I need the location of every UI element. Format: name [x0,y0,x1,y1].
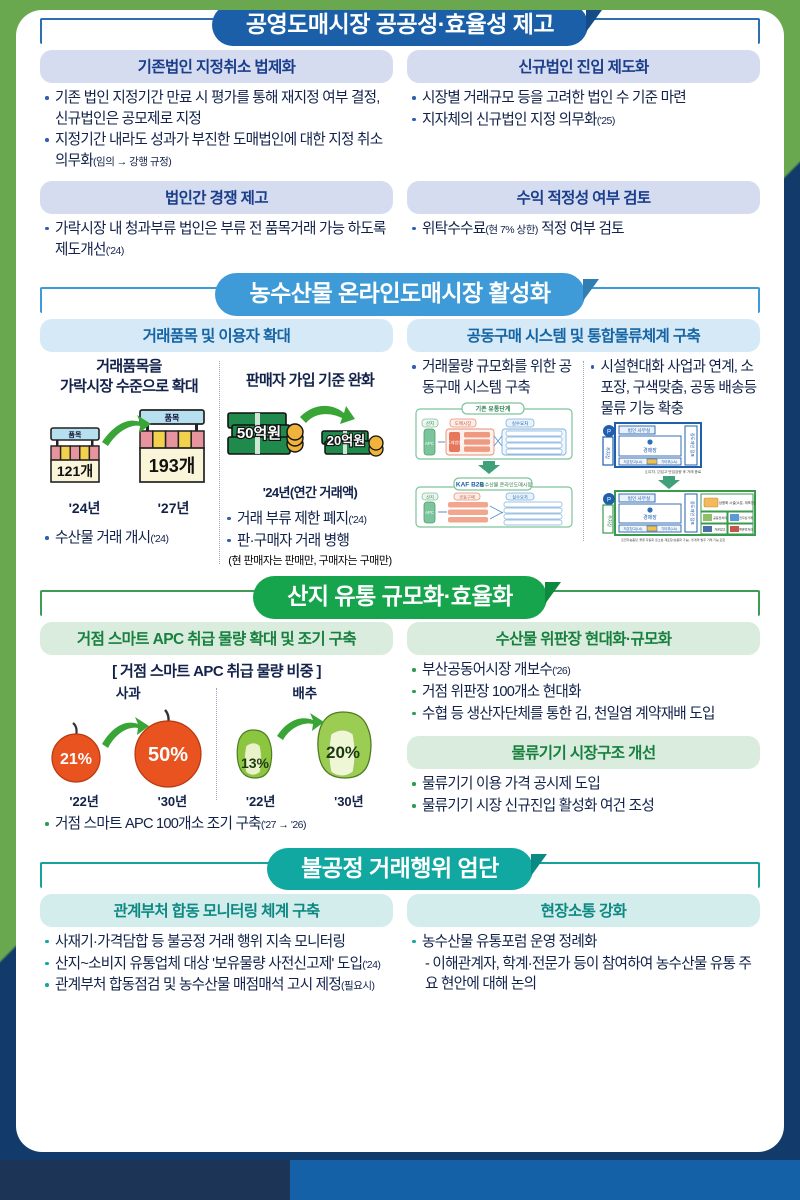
list-item: 농수산물 유통포럼 운영 정례화 [411,932,758,953]
chart-title: [ 거점 스마트 APC 취급 물량 비중 ] [40,660,393,681]
list-item: 기존 법인 지정기간 만료 시 평가를 통해 재지정 여부 결정, 신규법인은 … [44,88,391,129]
figure-joint-purchase: 거래물량 규모화를 위한 공동구매 시스템 구축 기존 유통단계 산지 APC [407,357,582,545]
section-title-wrap: 농수산물 온라인도매시장 활성화 [34,273,766,319]
list-subitem: - 이해관계자, 학계·전문가 등이 참여하여 농수산물 유통 주요 현안에 대… [411,954,758,995]
list-item: 거점 스마트 APC 100개소 조기 구축('27 → '26) [44,814,391,835]
panel-row: 거점 스마트 APC 취급 물량 확대 및 조기 구축 [ 거점 스마트 APC… [40,622,760,836]
figure-logistics-facility: 시설현대화 사업과 연계, 소포장, 구색맞춤, 공동 배송등 물류 기능 확충… [586,357,761,545]
panel-field-communication: 현장소통 강화 농수산물 유통포럼 운영 정례화 - 이해관계자, 학계·전문가… [407,894,760,997]
svg-text:경매장: 경매장 [643,514,657,521]
panel-existing-corp: 기존법인 지정취소 법제화 기존 법인 지정기간 만료 시 평가를 통해 재지정… [40,50,393,173]
apc-volume-chart: 사과 21% 50% '22년 [40,682,393,810]
bullet-tail: 적정 여부 검토 [538,221,624,237]
bullet-note: ('24) [150,533,168,545]
list-item: 시장별 거래규모 등을 고려한 법인 수 기준 마련 [411,88,758,109]
market-facility-diagram: P 주차장 법인 사무실 경매장 저온창고(LA) [589,421,757,545]
bullet-list: 거래 부류 제한 폐지('24) 판·구매자 거래 병행 [222,509,398,551]
figure-row: 거래물량 규모화를 위한 공동구매 시스템 구축 기존 유통단계 산지 APC [407,357,760,545]
svg-text:공동전처리: 공동전처리 [713,515,727,520]
seller-subnote: (현 판매자는 판매만, 구매자는 구매만) [222,552,398,568]
svg-text:경매장: 경매장 [643,447,657,454]
caption-line2: 가락시장 수준으로 확대 [60,378,198,395]
chart-group-apple: 사과 21% 50% '22년 [40,682,217,810]
bullet-list: 거점 스마트 APC 100개소 조기 구축('27 → '26) [40,814,393,835]
bullet-text: 부산공동어시장 개보수 [422,662,552,678]
figure-items-expansion: 거래품목을 가락시장 수준으로 확대 품목 [40,357,218,568]
bullet-text: 지자체의 신규법인 지정 의무화 [422,112,597,128]
bullet-list: 시설현대화 사업과 연계, 소포장, 구색맞춤, 공동 배송등 물류 기능 확충 [586,357,761,419]
year-labels: '22년 '30년 [40,791,217,810]
list-item: 지정기간 내라도 성과가 부진한 도매법인에 대한 지정 취소 의무화(임의 →… [44,130,391,171]
bullet-text: 거점 스마트 APC 100개소 조기 구축 [55,816,261,832]
shop-to-value-text: 193개 [149,456,196,476]
shop-growth-chart: 품목 [40,400,218,492]
list-item: 거래 부류 제한 폐지('24) [226,509,396,530]
money-stack-large-icon: 50억원 [228,413,303,454]
bullet-note: ('24) [348,514,366,526]
list-item: 수협 등 생산자단체를 통한 김, 천일염 계약재배 도입 [411,704,758,725]
section-title: 불공정 거래행위 엄단 [267,848,533,890]
bullet-list: 물류기기 이용 가격 공시제 도입 물류기기 시장 신규진입 활성화 여건 조성 [407,774,760,816]
shop-icon-large: 품목 [140,410,204,482]
apple-from-value: 21% [60,751,92,768]
section-body: 거래품목 및 이용자 확대 거래품목을 가락시장 수준으로 확대 [34,319,766,568]
panel-heading: 신규법인 진입 제도화 [407,50,760,83]
svg-text:중도매인 점포: 중도매인 점포 [689,433,696,457]
bullet-note: ('25) [597,115,615,127]
svg-text:실수요처: 실수요처 [512,420,529,427]
money-reduction-chart: 50억원 20억원 [222,395,398,477]
svg-text:기타부(LA): 기타부(LA) [661,526,677,531]
bullet-list: 부산공동어시장 개보수('26) 거점 위판장 100개소 현대화 수협 등 생… [407,660,760,724]
panel-smart-apc: 거점 스마트 APC 취급 물량 확대 및 조기 구축 [ 거점 스마트 APC… [40,622,393,836]
svg-text:P: P [607,498,611,504]
distribution-flow-diagram: 기존 유통단계 산지 APC 도매시장 도매법인 [414,401,574,529]
bullet-note: ('24) [362,959,380,971]
bullet-list: 수산물 거래 개시('24) [40,528,218,549]
list-item: 산지~소비지 유통업체 대상 '보유물량 사전신고제' 도입('24) [44,954,391,975]
year-to: '30년 [158,791,188,810]
money-note: '24년(연간 거래액) [222,482,398,501]
panel-heading: 관계부처 합동 모니터링 체계 구축 [40,894,393,927]
bullet-text: 관계부처 합동점검 및 농수산물 매점매석 고시 제정 [55,977,341,993]
year-from: '22년 [69,791,99,810]
svg-text:공동구매: 공동구매 [460,493,476,500]
panel-heading: 거점 스마트 APC 취급 물량 확대 및 조기 구축 [40,622,393,655]
bottom-bar-navy [0,1160,290,1200]
list-item: 관계부처 합동점검 및 농수산물 매점매석 고시 제정(필요시) [44,975,391,996]
bottom-bar [0,1160,800,1200]
panel-monitoring-system: 관계부처 합동 모니터링 체계 구축 사재기·가격담합 등 불공정 거래 행위 … [40,894,393,997]
svg-text:기타부(LA): 기타부(LA) [661,459,677,464]
figure-row: 거래품목을 가락시장 수준으로 확대 품목 [40,357,393,568]
section-title: 농수산물 온라인도매시장 활성화 [215,273,584,315]
bullet-text: 판·구매자 거래 병행 [237,533,349,549]
series-label: 사과 [40,682,217,702]
list-item: 시설현대화 사업과 연계, 소포장, 구색맞춤, 공동 배송등 물류 기능 확충 [590,357,759,419]
list-item: 거점 위판장 100개소 현대화 [411,682,758,703]
bullet-list: 거래물량 규모화를 위한 공동구매 시스템 구축 [407,357,582,398]
bullet-note: (현 7% 상한) [485,224,537,236]
list-item: 사재기·가격담합 등 불공정 거래 행위 지속 모니터링 [44,932,391,953]
bullet-text: 산지~소비지 유통업체 대상 '보유물량 사전신고제' 도입 [55,956,362,972]
apple-comparison-figure: 21% 50% [40,702,216,788]
svg-text:저온창고(LA): 저온창고(LA) [623,459,642,464]
panel-row: 법인간 경쟁 제고 가락시장 내 청과부류 법인은 부류 전 품목거래 가능 하… [40,181,760,261]
bullet-note: (필요시) [341,980,374,992]
bullet-list: 기존 법인 지정기간 만료 시 평가를 통해 재지정 여부 결정, 신규법인은 … [40,88,393,172]
section-body: 기존법인 지정취소 법제화 기존 법인 지정기간 만료 시 평가를 통해 재지정… [34,50,766,261]
bullet-text: 위탁수수료 [422,221,485,237]
svg-text:품목: 품목 [165,414,180,423]
decrease-arrow-icon [300,406,355,424]
panel-new-corp: 신규법인 진입 제도화 시장별 거래규모 등을 고려한 법인 수 기준 마련 지… [407,50,760,173]
diagram-bottom-label: 농수산물 온라인도매시장 [480,481,532,488]
year-to: '27년 [129,498,218,518]
svg-text:상품화 시설(소분, 재포장): 상품화 시설(소분, 재포장) [719,500,755,505]
bullet-list: 위탁수수료(현 7% 상한) 적정 여부 검토 [407,219,760,240]
section-title-wrap: 불공정 거래행위 엄단 [34,848,766,894]
panel-heading: 법인간 경쟁 제고 [40,181,393,214]
money-to-text: 20억원 [327,433,365,448]
series-label: 배추 [217,682,394,702]
svg-text:법인 사무실: 법인 사무실 [628,495,650,502]
section-body: 거점 스마트 APC 취급 물량 확대 및 조기 구축 [ 거점 스마트 APC… [34,622,766,836]
svg-text:전자상거래: 전자상거래 [739,515,753,520]
panel-heading: 거래품목 및 이용자 확대 [40,319,393,352]
caption-line1: 거래품목을 [96,358,162,375]
year-from: '22년 [246,791,276,810]
panel-heading: 현장소통 강화 [407,894,760,927]
year-to: '30년 [334,791,364,810]
figure-caption: 거래품목을 가락시장 수준으로 확대 [40,357,218,396]
svg-text:P: P [607,430,611,436]
panel-row: 관계부처 합동 모니터링 체계 구축 사재기·가격담합 등 불공정 거래 행위 … [40,894,760,997]
section-online-wholesale-market: 농수산물 온라인도매시장 활성화 거래품목 및 이용자 확대 거래품목을 가락시… [34,287,766,568]
svg-text:중도매인 점포: 중도매인 점포 [689,501,696,525]
section-title-wrap: 공영도매시장 공공성·효율성 제고 [34,10,766,50]
growth-arrow-icon [277,713,324,740]
panel-joint-purchase-logistics: 공동구매 시스템 및 통합물류체계 구축 거래물량 규모화를 위한 공동구매 시… [407,319,760,568]
bullet-note: ('26) [552,665,570,677]
svg-text:저온창고(LA): 저온창고(LA) [623,526,642,531]
list-item: 가락시장 내 청과부류 법인은 부류 전 품목거래 가능 하도록 제도개선('2… [44,219,391,260]
panel-heading: 수익 적정성 여부 검토 [407,181,760,214]
cabbage-from-value: 13% [241,755,270,771]
section-title-wrap: 산지 유통 규모화·효율화 [34,576,766,622]
cabbage-comparison-figure: 13% 20% [217,702,393,788]
bullet-text: 시설현대화 사업과 연계, 소포장, 구색맞춤, 공동 배송등 물류 기능 확충 [601,359,757,416]
svg-text:저온창고: 저온창고 [714,527,725,532]
svg-text:산지: 산지 [426,493,434,500]
panel-row: 기존법인 지정취소 법제화 기존 법인 지정기간 만료 시 평가를 통해 재지정… [40,50,760,173]
shop-icon-small: 품목 [51,428,99,482]
year-labels: '22년 '30년 [217,791,394,810]
cabbage-to-value: 20% [326,743,360,762]
svg-text:법인 사무실: 법인 사무실 [628,427,650,434]
list-item: 부산공동어시장 개보수('26) [411,660,758,681]
year-labels: '24년 '27년 [40,498,218,518]
bullet-text: 거래 부류 제한 폐지 [237,511,348,527]
bullet-text: 사재기·가격담합 등 불공정 거래 행위 지속 모니터링 [55,934,345,950]
svg-text:APC: APC [425,441,435,446]
svg-text:APC: APC [425,510,434,515]
svg-text:품목: 품목 [69,430,82,439]
svg-text:주차장: 주차장 [604,447,611,459]
panel-heading: 기존법인 지정취소 법제화 [40,50,393,83]
bullet-list: 사재기·가격담합 등 불공정 거래 행위 지속 모니터링 산지~소비지 유통업체… [40,932,393,996]
apple-to-value: 50% [148,744,188,766]
chart-group-cabbage: 배추 13% 20 [217,682,394,810]
bullet-text: 수산물 거래 개시 [55,530,150,546]
list-item: 지자체의 신규법인 지정 의무화('25) [411,110,758,131]
year-from: '24년 [40,498,129,518]
list-item: 물류기기 이용 가격 공시제 도입 [411,774,758,795]
bullet-text: 기존 법인 지정기간 만료 시 평가를 통해 재지정 여부 결정, 신규법인은 … [55,90,380,127]
bullet-list: 가락시장 내 청과부류 법인은 부류 전 품목거래 가능 하도록 제도개선('2… [40,219,393,260]
figure-seller-criteria: 판매자 가입 기준 완화 [222,357,398,568]
bullet-text: 물류기기 시장 신규진입 활성화 여건 조성 [422,798,654,814]
panel-expand-items-users: 거래품목 및 이용자 확대 거래품목을 가락시장 수준으로 확대 [40,319,393,568]
section-body: 관계부처 합동 모니터링 체계 구축 사재기·가격담합 등 불공정 거래 행위 … [34,894,766,997]
bullet-text: 거점 위판장 100개소 현대화 [422,684,581,700]
section-title: 산지 유통 규모화·효율화 [253,576,547,618]
svg-text:주차장: 주차장 [606,515,613,527]
panel-fishery-market: 수산물 위판장 현대화·규모화 부산공동어시장 개보수('26) 거점 위판장 … [407,622,760,836]
money-stack-small-icon: 20억원 [322,431,383,456]
bullet-text: 수협 등 생산자단체를 통한 김, 천일염 계약재배 도입 [422,706,715,722]
bullet-note: ('24) [106,245,124,257]
svg-text:도매시장: 도매시장 [455,420,472,427]
money-from-text: 50억원 [237,424,281,442]
svg-text:실수요처: 실수요처 [513,493,529,500]
shop-from-value-text: 121개 [57,463,93,479]
list-item: 판·구매자 거래 병행 [226,531,396,552]
section-public-wholesale-market: 공영도매시장 공공성·효율성 제고 기존법인 지정취소 법제화 기존 법인 지정… [34,18,766,261]
bullet-text: 가락시장 내 청과부류 법인은 부류 전 품목거래 가능 하도록 제도개선 [55,221,386,258]
bullet-text: 거래물량 규모화를 위한 공동구매 시스템 구축 [422,359,571,396]
infographic-page: 공영도매시장 공공성·효율성 제고 기존법인 지정취소 법제화 기존 법인 지정… [16,10,784,1152]
bottom-bar-blue [290,1160,800,1200]
section-production-distribution: 산지 유통 규모화·효율화 거점 스마트 APC 취급 물량 확대 및 조기 구… [34,590,766,836]
list-item: 위탁수수료(현 7% 상한) 적정 여부 검토 [411,219,758,240]
section-unfair-trade-crackdown: 불공정 거래행위 엄단 관계부처 합동 모니터링 체계 구축 사재기·가격담합 … [34,862,766,997]
bullet-note: ('27 → '26) [261,819,306,831]
section-title: 공영도매시장 공공성·효율성 제고 [212,10,588,46]
bullet-text: 농수산물 유통포럼 운영 정례화 [422,934,597,950]
diagram-caption-2: ⑴전자송품장, 물류 자동화 ⑵소분·재포장(상품화 가능), ⑶계약·발주 거… [621,537,725,542]
bullet-text: 물류기기 이용 가격 공시제 도입 [422,776,600,792]
panel-heading: 공동구매 시스템 및 통합물류체계 구축 [407,319,760,352]
panel-heading: 수산물 위판장 현대화·규모화 [407,622,760,655]
bullet-list: 시장별 거래규모 등을 고려한 법인 수 기준 마련 지자체의 신규법인 지정 … [407,88,760,130]
svg-text:물류전처리: 물류전처리 [739,527,753,532]
panel-row: 거래품목 및 이용자 확대 거래품목을 가락시장 수준으로 확대 [40,319,760,568]
diagram-top-label: 기존 유통단계 [476,405,511,413]
list-item: 물류기기 시장 신규진입 활성화 여건 조성 [411,796,758,817]
bullet-note: (임의 → 강행 규정) [93,156,171,168]
subitem-text: - 이해관계자, 학계·전문가 등이 참여하여 농수산물 유통 주요 현안에 대… [425,956,751,993]
panel-competition: 법인간 경쟁 제고 가락시장 내 청과부류 법인은 부류 전 품목거래 가능 하… [40,181,393,261]
bullet-list: 농수산물 유통포럼 운영 정례화 - 이해관계자, 학계·전문가 등이 참여하여… [407,932,760,995]
list-item: 수산물 거래 개시('24) [44,528,216,549]
panel-heading: 물류기기 시장구조 개선 [407,736,760,769]
diagram-caption-1: ⑴주차, ⑵입고·반입검량 후 거래 종료 [645,469,702,474]
figure-caption: 판매자 가입 기준 완화 [222,371,398,391]
svg-text:산지: 산지 [426,420,434,427]
bullet-text: 시장별 거래규모 등을 고려한 법인 수 기준 마련 [422,90,686,106]
list-item: 거래물량 규모화를 위한 공동구매 시스템 구축 [411,357,580,398]
svg-text:도매법인: 도매법인 [447,439,462,445]
panel-profit-review: 수익 적정성 여부 검토 위탁수수료(현 7% 상한) 적정 여부 검토 [407,181,760,261]
